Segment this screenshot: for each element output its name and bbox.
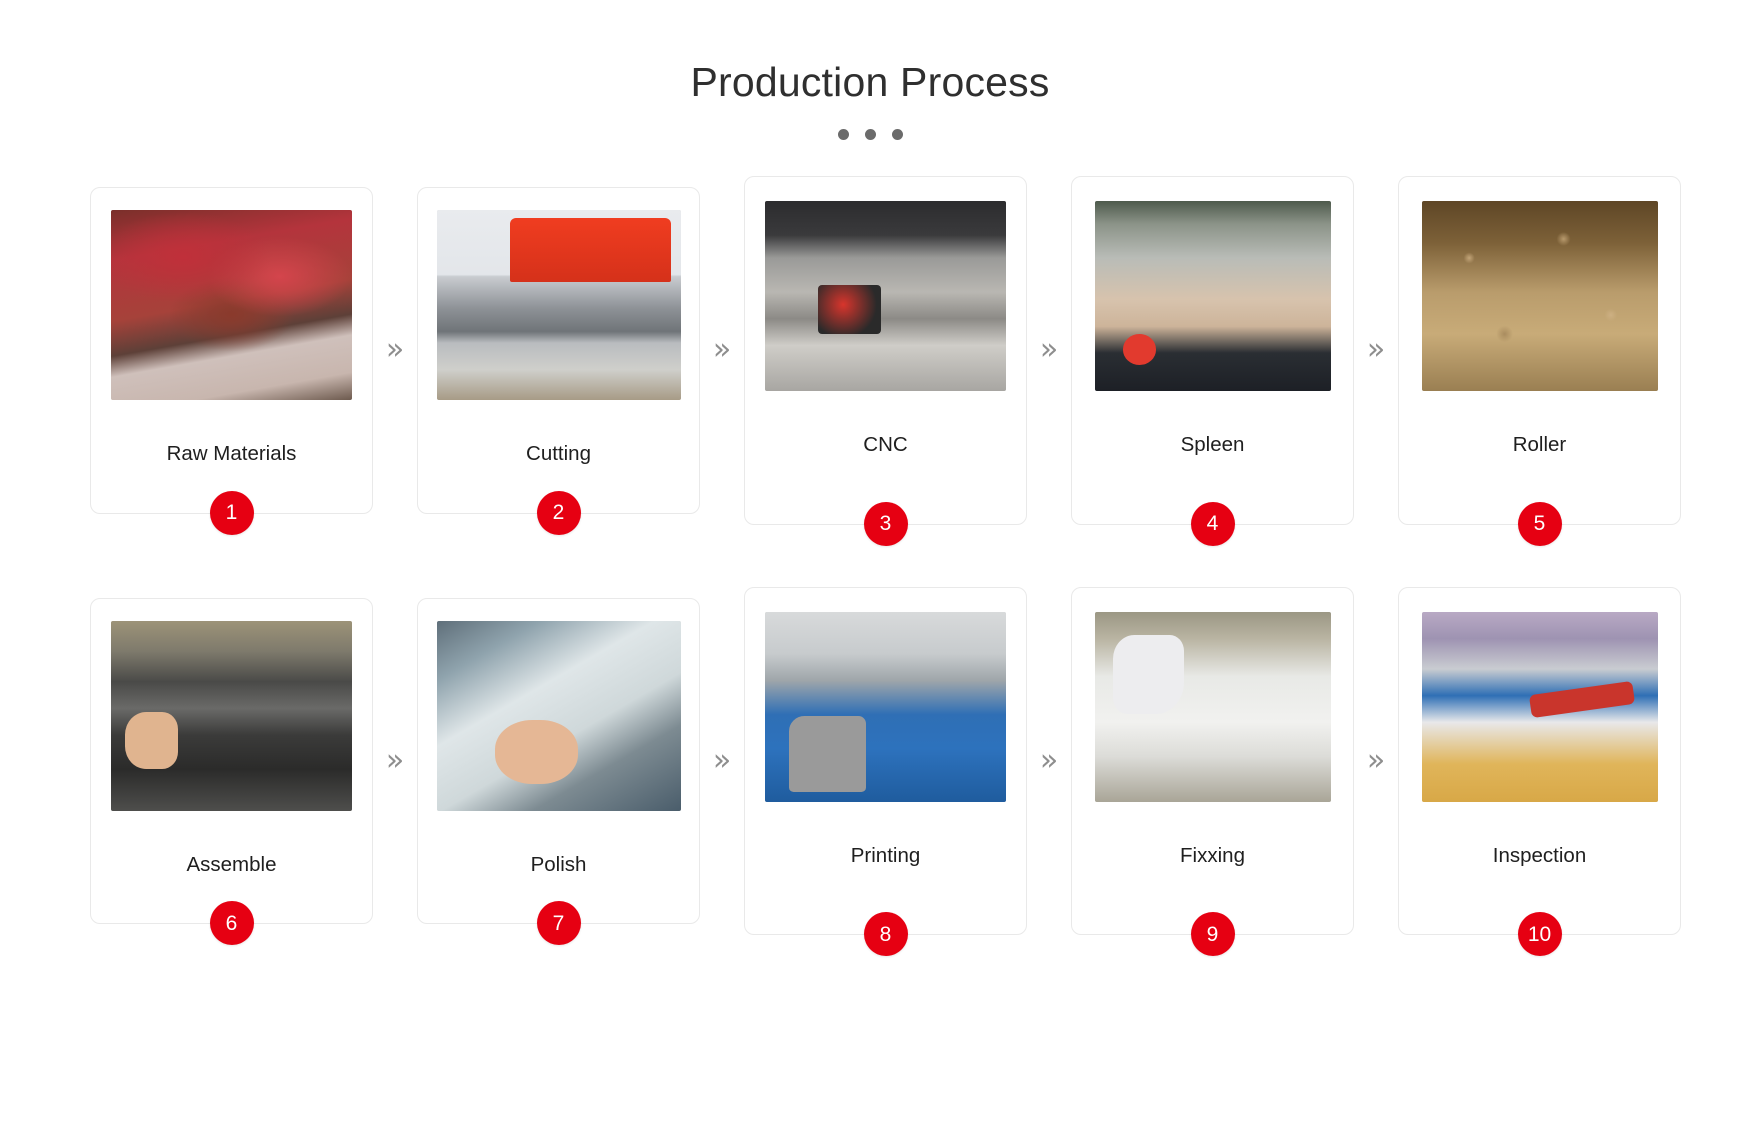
process-step-card[interactable]: Assemble6 (90, 598, 373, 925)
step-label: Printing (851, 844, 921, 869)
process-row: Raw Materials1»Cutting2»CNC3»Spleen4»Rol… (90, 176, 1650, 525)
step-thumbnail-image (1422, 201, 1658, 391)
step-number-badge: 4 (1191, 502, 1235, 546)
page-header: Production Process (0, 0, 1740, 140)
step-thumbnail[interactable] (765, 612, 1006, 802)
step-label: Spleen (1181, 433, 1245, 458)
step-number-badge: 7 (537, 901, 581, 945)
step-thumbnail-image (765, 612, 1006, 802)
step-number-badge: 5 (1518, 502, 1562, 546)
double-chevron-right-icon: » (1027, 335, 1071, 365)
process-step-card[interactable]: Raw Materials1 (90, 187, 373, 514)
process-step-card[interactable]: Spleen4 (1071, 176, 1354, 525)
decoration-dot (892, 129, 903, 140)
process-step-card[interactable]: Polish7 (417, 598, 700, 925)
step-thumbnail-image (1422, 612, 1658, 802)
process-step-card[interactable]: Printing8 (744, 587, 1027, 936)
step-thumbnail-image (765, 201, 1006, 391)
step-label: Assemble (186, 853, 276, 878)
process-step-card[interactable]: Roller5 (1398, 176, 1681, 525)
step-number-badge: 1 (210, 491, 254, 535)
step-number-badge: 3 (864, 502, 908, 546)
step-number-badge: 6 (210, 901, 254, 945)
process-step-card[interactable]: Cutting2 (417, 187, 700, 514)
step-label: Raw Materials (167, 442, 297, 467)
step-thumbnail-image (1095, 612, 1331, 802)
decoration-dot (838, 129, 849, 140)
double-chevron-right-icon: » (1027, 746, 1071, 776)
step-thumbnail-image (437, 621, 681, 811)
step-label: Inspection (1493, 844, 1586, 869)
production-process-page: Production Process Raw Materials1»Cuttin… (0, 0, 1740, 1134)
double-chevron-right-icon: » (1354, 335, 1398, 365)
double-chevron-right-icon: » (700, 746, 744, 776)
process-step-card[interactable]: CNC3 (744, 176, 1027, 525)
step-thumbnail-image (111, 210, 352, 400)
page-title: Production Process (0, 58, 1740, 107)
decoration-dot (865, 129, 876, 140)
process-row: Assemble6»Polish7»Printing8»Fixxing9»Ins… (90, 587, 1650, 936)
step-thumbnail[interactable] (1422, 612, 1658, 802)
step-thumbnail[interactable] (1095, 201, 1331, 391)
double-chevron-right-icon: » (1354, 746, 1398, 776)
step-thumbnail-image (437, 210, 681, 400)
step-thumbnail-image (111, 621, 352, 811)
step-thumbnail[interactable] (765, 201, 1006, 391)
double-chevron-right-icon: » (700, 335, 744, 365)
step-label: Fixxing (1180, 844, 1245, 869)
step-label: Roller (1513, 433, 1567, 458)
step-label: Cutting (526, 442, 591, 467)
step-number-badge: 9 (1191, 912, 1235, 956)
double-chevron-right-icon: » (373, 335, 417, 365)
step-thumbnail[interactable] (111, 621, 352, 811)
step-label: CNC (863, 433, 907, 458)
process-steps-container: Raw Materials1»Cutting2»CNC3»Spleen4»Rol… (0, 176, 1740, 935)
title-decoration-dots (0, 129, 1740, 140)
process-step-card[interactable]: Fixxing9 (1071, 587, 1354, 936)
step-number-badge: 10 (1518, 912, 1562, 956)
step-label: Polish (531, 853, 587, 878)
step-thumbnail[interactable] (437, 210, 681, 400)
step-thumbnail[interactable] (437, 621, 681, 811)
step-number-badge: 2 (537, 491, 581, 535)
double-chevron-right-icon: » (373, 746, 417, 776)
step-thumbnail[interactable] (1095, 612, 1331, 802)
step-thumbnail[interactable] (1422, 201, 1658, 391)
step-thumbnail-image (1095, 201, 1331, 391)
process-step-card[interactable]: Inspection10 (1398, 587, 1681, 936)
step-thumbnail[interactable] (111, 210, 352, 400)
step-number-badge: 8 (864, 912, 908, 956)
